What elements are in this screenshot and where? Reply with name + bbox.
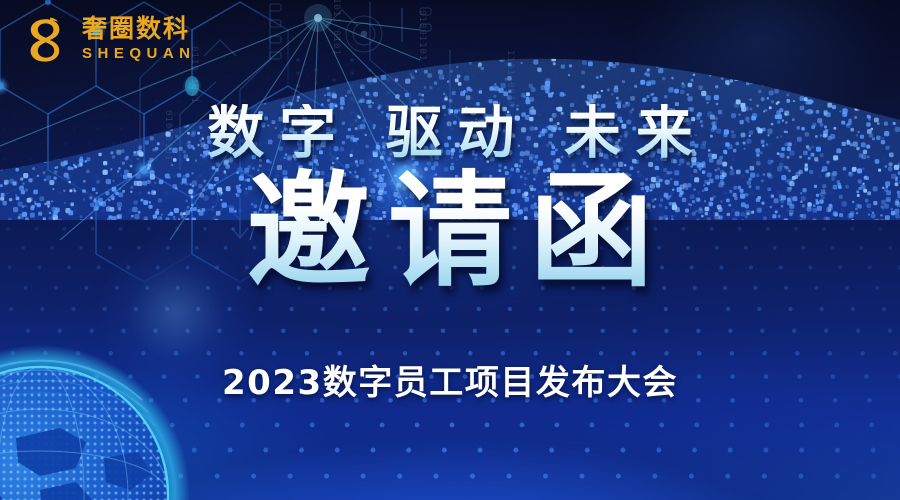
- logo-name-en: SHEQUAN: [82, 46, 196, 61]
- brand-logo[interactable]: 奢圈数科 SHEQUAN: [16, 10, 196, 66]
- logo-name-cn: 奢圈数科: [82, 16, 196, 41]
- main-title-text: 邀请函: [0, 166, 900, 300]
- headline-block: 数字 驱动 未来 邀请函: [0, 104, 900, 300]
- shequan-logo-mark: [16, 10, 72, 66]
- svg-text:1011 0101: 1011 0101: [331, 0, 341, 56]
- svg-text:01001101: 01001101: [417, 10, 427, 61]
- invitation-poster: 01010101 0110 1001 1011 0101 01001101 11…: [0, 0, 900, 500]
- event-subtitle: 2023数字员工项目发布大会: [0, 355, 900, 404]
- tagline-text: 数字 驱动 未来: [0, 104, 900, 164]
